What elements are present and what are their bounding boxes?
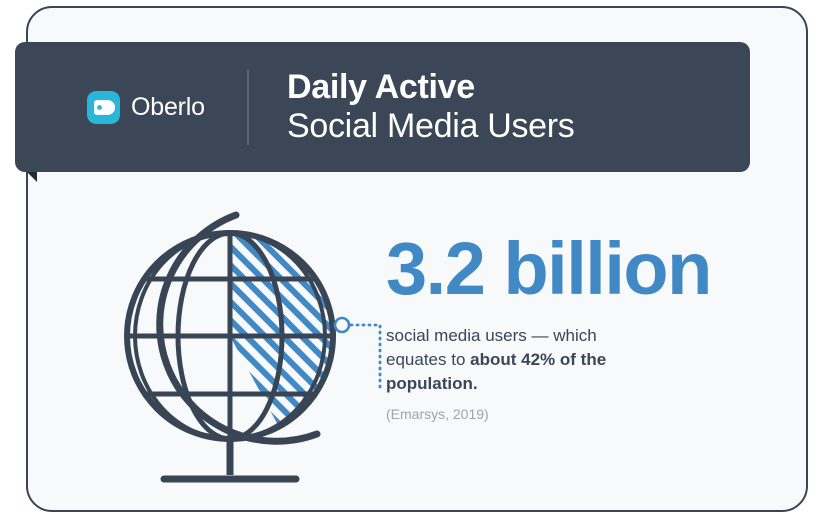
oberlo-tag-icon xyxy=(87,91,120,124)
stat-source: (Emarsys, 2019) xyxy=(386,406,742,422)
stat-unit: billion xyxy=(503,227,710,310)
stat-block: 3.2 billion social media users — which e… xyxy=(386,232,742,422)
title-line-regular: Social Media Users xyxy=(287,107,575,146)
brand-lockup: Oberlo xyxy=(15,91,247,124)
page-title: Daily Active Social Media Users xyxy=(249,68,575,147)
stat-value: 3.2 xyxy=(386,227,484,310)
stat-figure: 3.2 billion xyxy=(386,232,742,306)
stat-desc-bold1: about xyxy=(470,350,516,369)
stat-desc-line1: social media users — xyxy=(386,326,549,345)
globe-icon xyxy=(96,190,356,500)
title-line-bold: Daily Active xyxy=(287,68,575,107)
header-ribbon: Oberlo Daily Active Social Media Users xyxy=(15,42,750,172)
infographic-canvas: Oberlo Daily Active Social Media Users xyxy=(0,0,822,524)
brand-name: Oberlo xyxy=(131,93,205,122)
stat-description: social media users — which equates to ab… xyxy=(386,324,636,396)
